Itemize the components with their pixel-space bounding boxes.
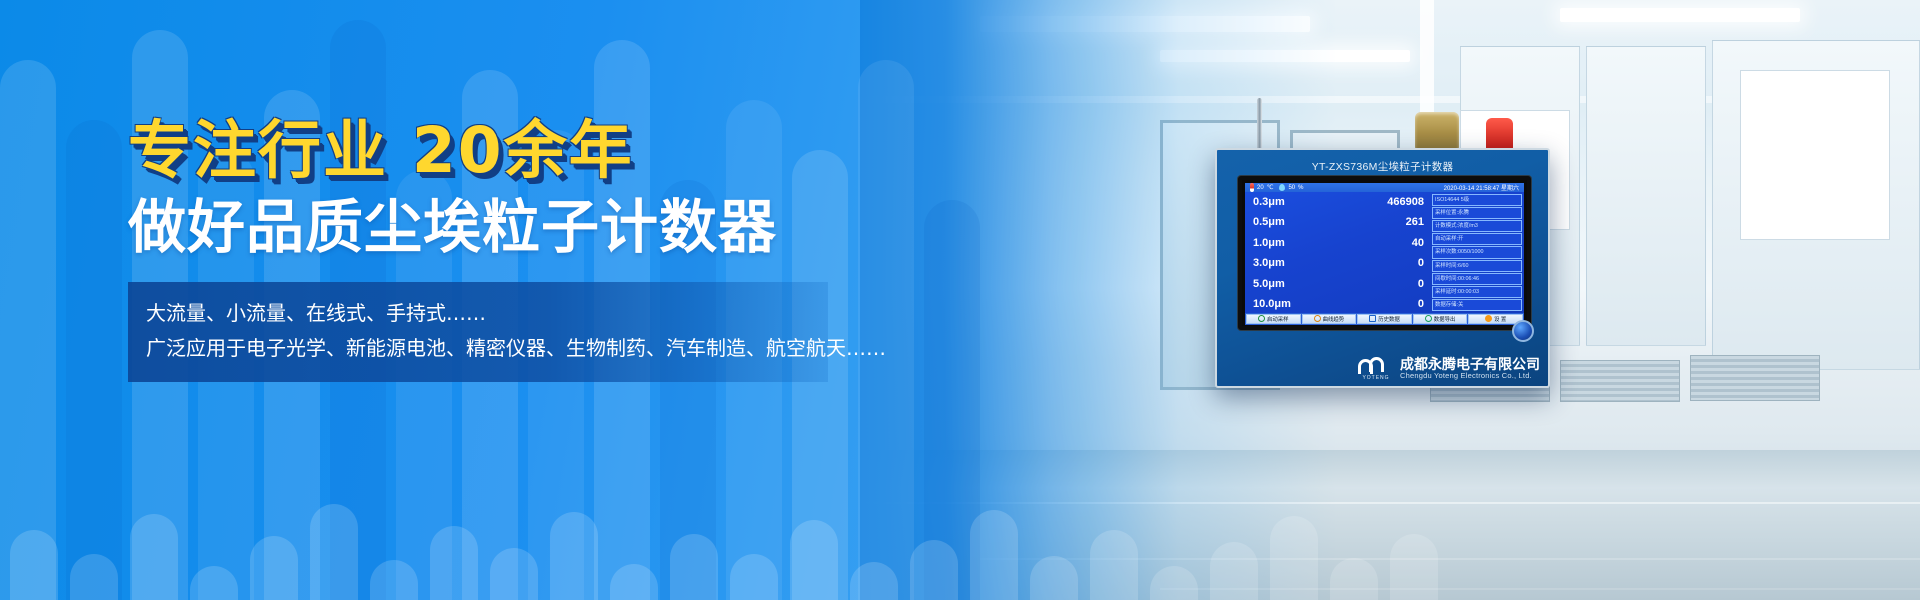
settings-label: 设 置 [1494,315,1506,323]
device-brass-connector [1415,112,1459,150]
channel-size: 1.0μm [1253,238,1285,249]
channel-count: 0 [1418,299,1424,310]
table-row: 1.0μm 40 [1253,238,1424,249]
curve-trend-button[interactable]: 曲线趋势 [1302,314,1357,324]
promo-banner: 专注行业 20余年 做好品质尘埃粒子计数器 大流量、小流量、在线式、手持式…… … [0,0,1920,600]
channel-count: 0 [1418,258,1424,269]
table-row: 3.0μm 0 [1253,258,1424,269]
lcd-toolbar: 启动采样 曲线趋势 历史数据 数据导出 [1245,313,1524,325]
list-item: 间歇时间:00:06:46 [1432,273,1522,285]
list-item: 自动采样:开 [1432,233,1522,245]
device-alarm-beacon [1486,118,1513,150]
yoteng-logo-icon: YOTENG [1358,358,1394,380]
datetime-display: 2020-03-14 21:58:47 星期六 [1444,183,1519,192]
sampling-info-panel: ISO14644 5级 采样位置:永腾 计数模式:浓度/m3 自动采样:开 采样… [1430,192,1524,313]
headline-secondary: 做好品质尘埃粒子计数器 [128,196,908,260]
temperature-reading: 20 ℃ [1250,183,1273,192]
chart-icon [1314,315,1321,322]
table-row: 5.0μm 0 [1253,279,1424,290]
humidity-unit: % [1298,185,1303,191]
channel-size: 10.0μm [1253,299,1291,310]
list-item: 采样位置:永腾 [1432,207,1522,219]
lcd-status-bar: 20 ℃ 50 % 2020-03-14 21:58:47 星期六 [1245,183,1524,192]
list-item: 采样延时:00:00:03 [1432,286,1522,298]
table-row: 0.5μm 261 [1253,217,1424,228]
document-icon [1369,315,1376,322]
history-data-button[interactable]: 历史数据 [1357,314,1412,324]
device-antenna [1257,98,1262,152]
list-item: 数据存储:关 [1432,299,1522,311]
device-model-label: YT-ZXS736M尘埃粒子计数器 [1217,159,1548,174]
channel-size: 0.3μm [1253,197,1285,208]
power-icon [1258,315,1265,322]
list-item: 计数模式:浓度/m3 [1432,220,1522,232]
table-row: 0.3μm 466908 [1253,197,1424,208]
temperature-value: 20 [1257,185,1264,191]
humidity-value: 50 [1288,185,1295,191]
export-data-button[interactable]: 数据导出 [1413,314,1468,324]
headline-primary: 专注行业 20余年 [128,118,908,184]
subtitle-line-2: 广泛应用于电子光学、新能源电池、精密仪器、生物制药、汽车制造、航空航天…… [146,331,810,366]
export-icon [1425,315,1432,322]
curve-trend-label: 曲线趋势 [1323,315,1345,323]
channel-count: 261 [1406,217,1424,228]
logo-wordmark: YOTENG [1358,375,1394,381]
headline-block: 专注行业 20余年 做好品质尘埃粒子计数器 大流量、小流量、在线式、手持式…… … [128,118,908,382]
channel-size: 5.0μm [1253,279,1285,290]
humidity-reading: 50 % [1279,184,1303,191]
list-item: 采样次数:0050/1000 [1432,246,1522,258]
channel-count: 40 [1412,238,1424,249]
temperature-unit: ℃ [1267,184,1274,191]
subtitle-line-1: 大流量、小流量、在线式、手持式…… [146,296,810,331]
channel-size: 3.0μm [1253,258,1285,269]
export-data-label: 数据导出 [1434,315,1456,323]
brand-name-en: Chengdu Yoteng Electronics Co., Ltd. [1400,372,1540,380]
history-data-label: 历史数据 [1378,315,1400,323]
list-item: 采样时间:6/60 [1432,260,1522,272]
table-row: 10.0μm 0 [1253,299,1424,310]
gear-icon [1485,315,1492,322]
list-item: ISO14644 5级 [1432,194,1522,206]
channel-count: 466908 [1387,197,1424,208]
device-lcd-screen[interactable]: 20 ℃ 50 % 2020-03-14 21:58:47 星期六 0.3μm [1238,176,1531,330]
start-sampling-label: 启动采样 [1267,315,1289,323]
channel-size: 0.5μm [1253,217,1285,228]
power-indicator-led[interactable] [1512,320,1534,342]
channel-count: 0 [1418,279,1424,290]
particle-counter-device: YT-ZXS736M尘埃粒子计数器 20 ℃ 50 % 2020-03-14 [1215,148,1550,388]
water-drop-icon [1279,184,1285,191]
particle-channel-table: 0.3μm 466908 0.5μm 261 1.0μm 40 3.0μm [1245,192,1430,313]
subtitle-bar: 大流量、小流量、在线式、手持式…… 广泛应用于电子光学、新能源电池、精密仪器、生… [128,282,828,382]
device-brand-row: YOTENG 成都永腾电子有限公司 Chengdu Yoteng Electro… [1217,357,1540,380]
brand-name-cn: 成都永腾电子有限公司 Chengdu Yoteng Electronics Co… [1400,357,1540,380]
decorative-bottom-bars [0,480,1920,600]
thermometer-icon [1250,183,1254,192]
start-sampling-button[interactable]: 启动采样 [1246,314,1301,324]
